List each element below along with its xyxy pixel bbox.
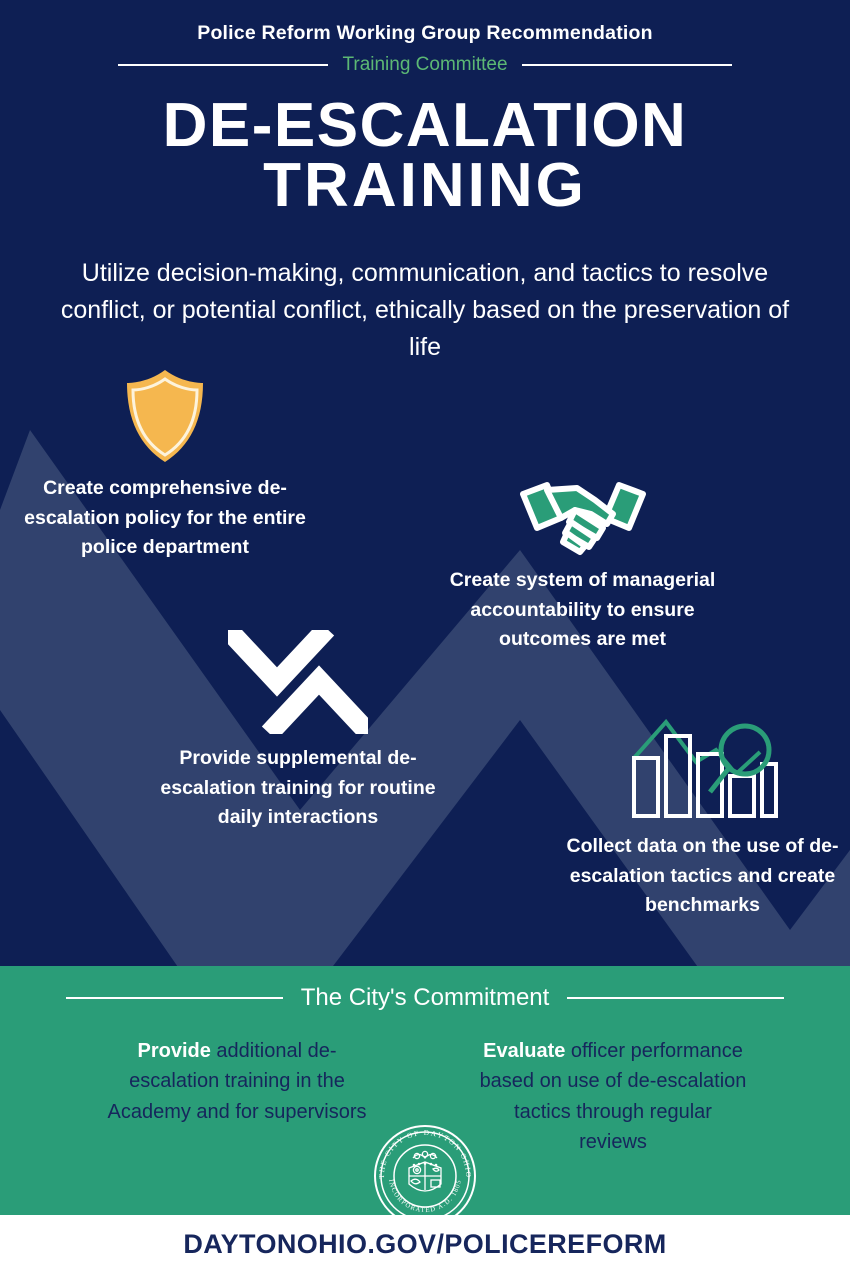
description-text: Utilize decision-making, communication, … [50,255,800,365]
recommendation-item: Create comprehensive de-escalation polic… [10,368,320,563]
commitment-title: The City's Commitment [301,984,550,1012]
commitment-item: Evaluate officer performance based on us… [479,1036,747,1158]
commitment-lead: Provide [137,1040,210,1062]
divider-right [567,997,784,999]
divider-left [118,64,328,66]
title-line-2: TRAINING [0,156,850,216]
divider-left [66,997,283,999]
bar-chart-magnifier-icon [628,712,778,822]
commitment-lead: Evaluate [483,1040,565,1062]
recommendation-text: Collect data on the use of de-escalation… [567,835,839,916]
infographic-poster: Police Reform Working Group Recommendati… [0,0,850,1274]
divider-right [522,64,732,66]
commitment-header: The City's Commitment [0,966,850,1012]
committee-name: Training Committee [342,54,507,76]
footer: DAYTONOHIO.GOV/POLICEREFORM [0,1215,850,1274]
recommendation-item: Provide supplemental de-escalation train… [148,630,448,833]
commitment-item: Provide additional de-escalation trainin… [103,1036,371,1158]
committee-row: Training Committee [0,54,850,76]
shield-icon [122,368,208,464]
recommendation-item: Collect data on the use of de-escalation… [565,712,840,921]
city-seal-icon: THE CITY OF DAYTON OHIO INCORPORATED A.D… [373,1124,477,1228]
recommendation-text: Create comprehensive de-escalation polic… [24,477,306,558]
header: Police Reform Working Group Recommendati… [0,22,850,76]
title-line-1: DE-ESCALATION [0,96,850,156]
page-title: DE-ESCALATION TRAINING [0,96,850,216]
chevrons-icon [228,630,368,734]
eyebrow-title: Police Reform Working Group Recommendati… [0,22,850,45]
footer-url[interactable]: DAYTONOHIO.GOV/POLICEREFORM [183,1229,666,1260]
recommendation-text: Create system of managerial accountabili… [450,569,716,650]
recommendation-item: Create system of managerial accountabili… [425,478,740,655]
handshake-icon [517,478,649,556]
recommendation-text: Provide supplemental de-escalation train… [160,747,435,828]
